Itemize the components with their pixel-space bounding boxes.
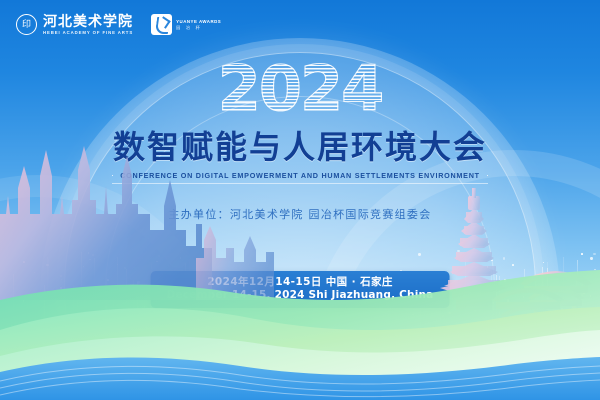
scenery-artwork xyxy=(0,0,600,400)
european-castle-skyline xyxy=(0,146,274,300)
conference-banner: 印 河北美术学院 HEBEI ACADEMY OF FINE ARTS YUAN… xyxy=(0,0,600,400)
